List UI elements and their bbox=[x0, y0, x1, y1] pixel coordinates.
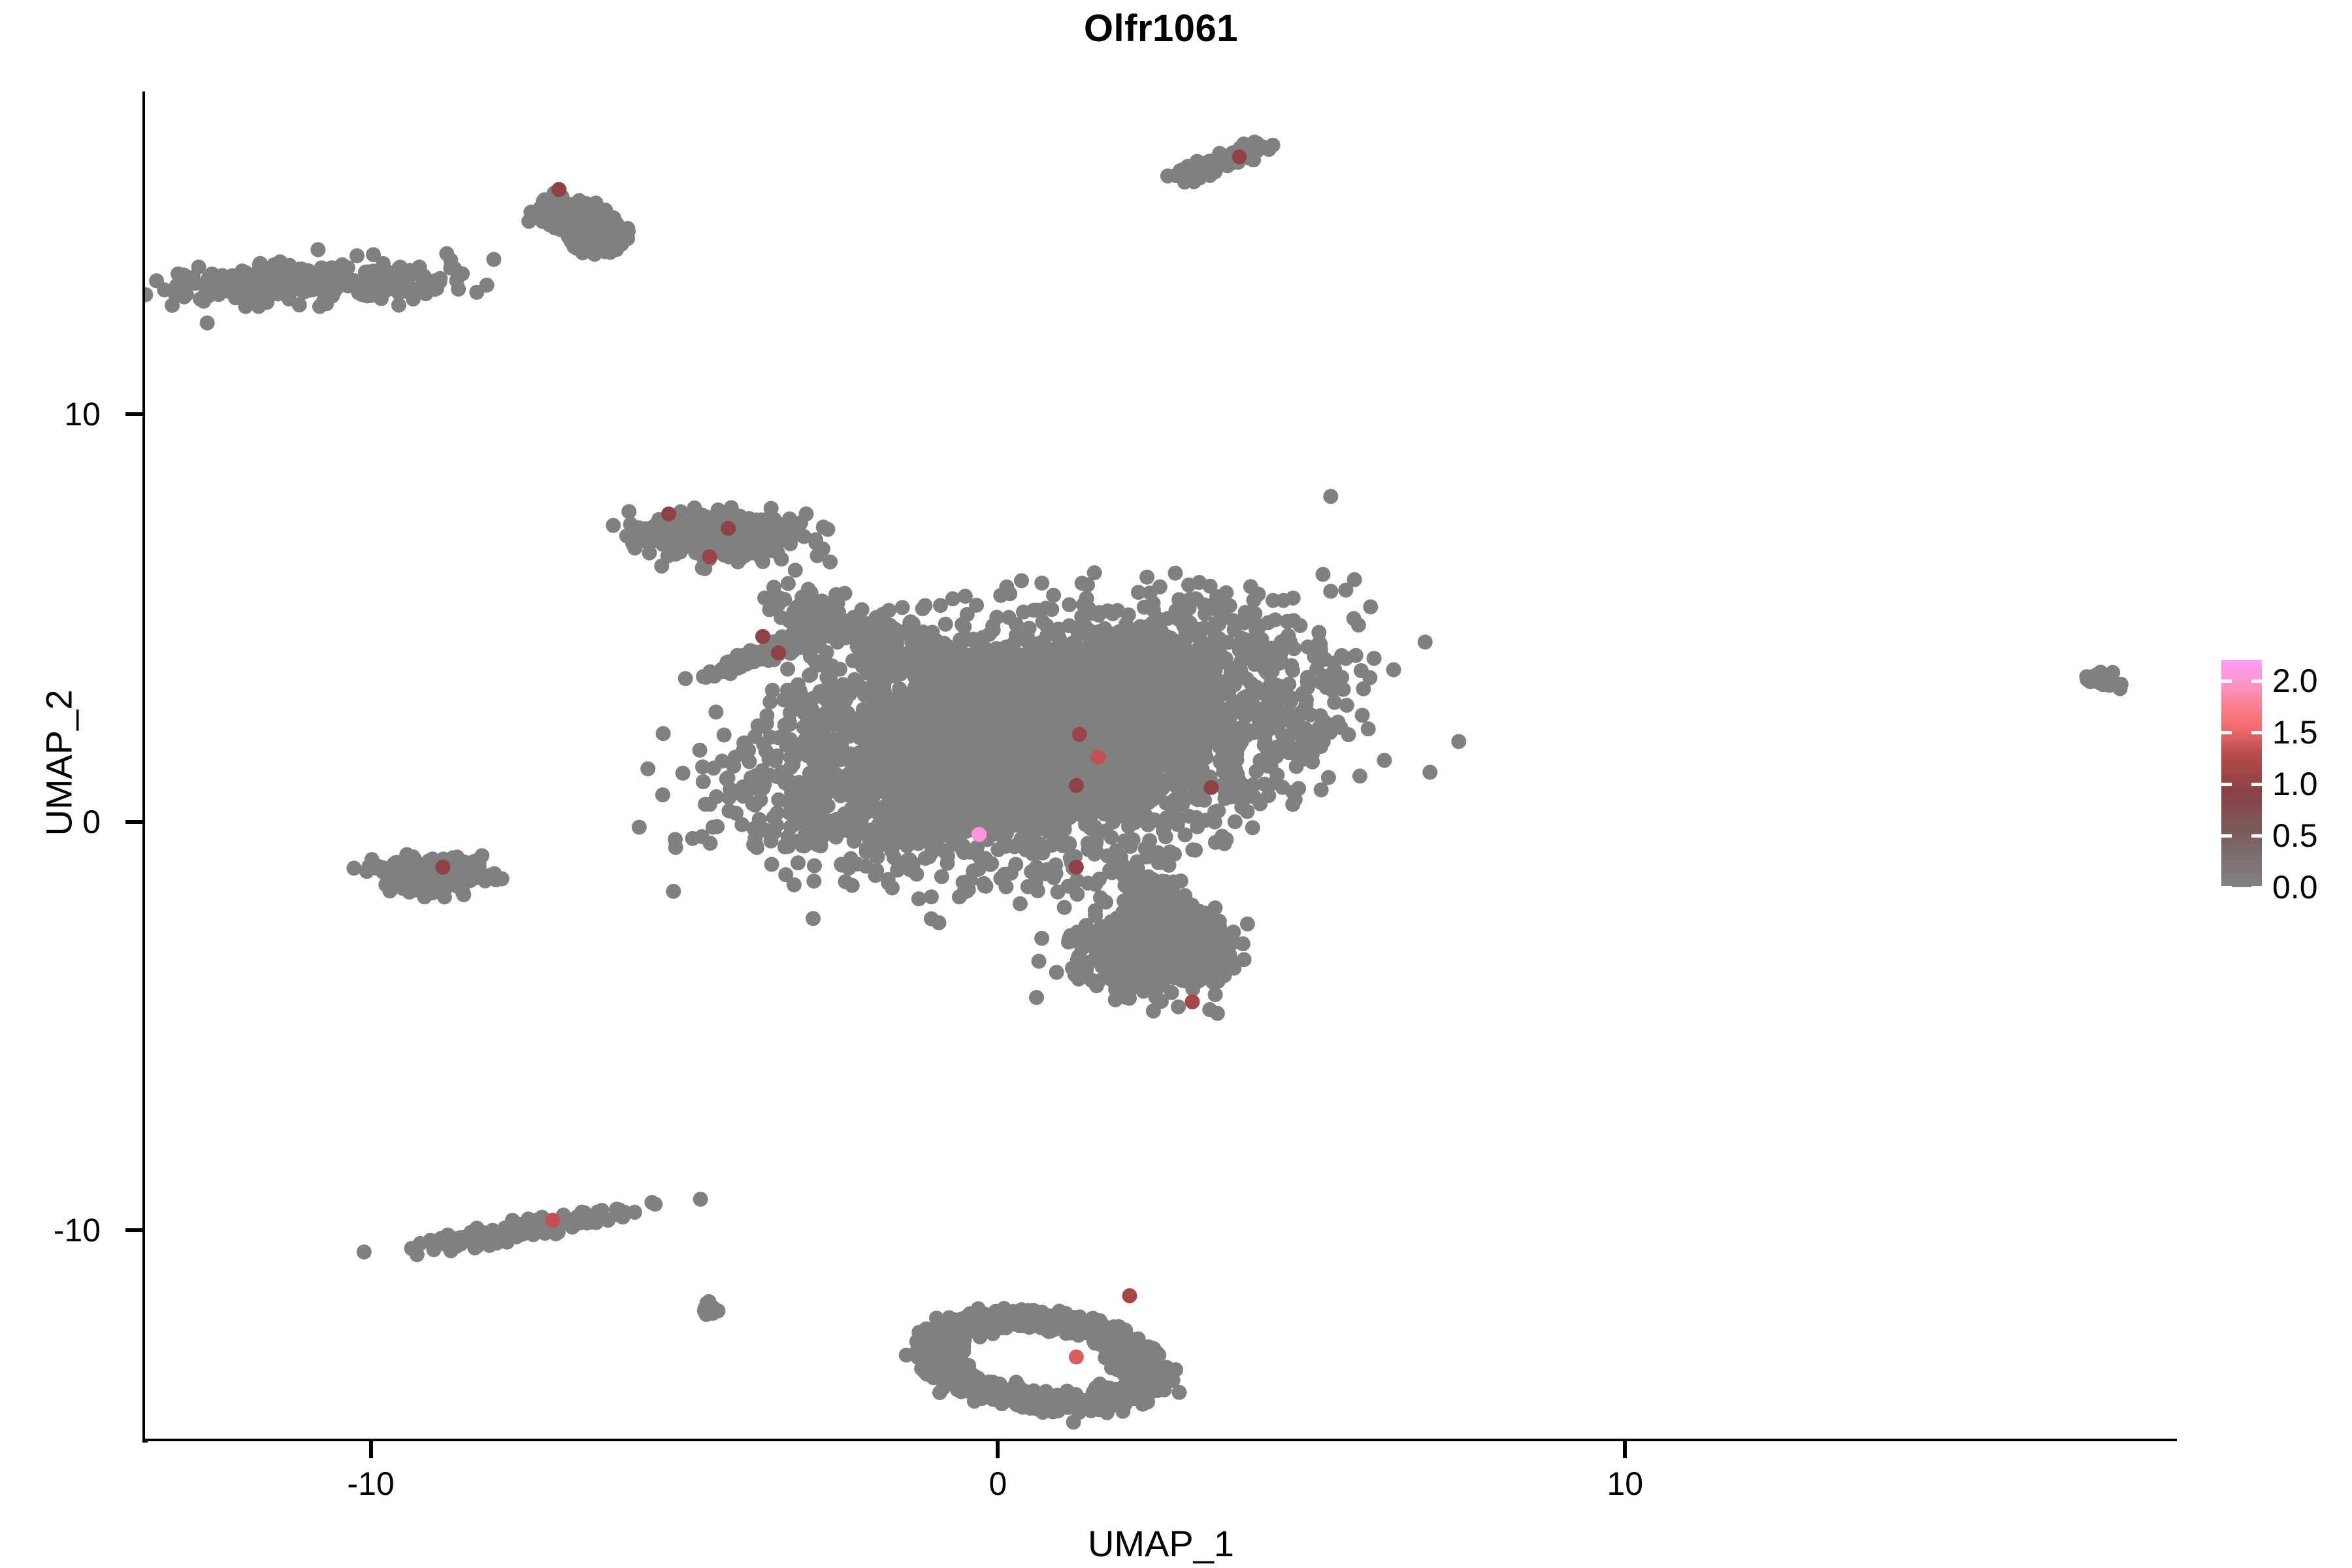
y-tick-label: -10 bbox=[0, 1214, 112, 1247]
scatter-point-highlighted bbox=[551, 182, 566, 197]
scatter-point-highlighted bbox=[661, 506, 676, 521]
scatter-point-highlighted bbox=[1069, 778, 1084, 793]
y-tick-mark bbox=[125, 1228, 142, 1232]
x-tick-mark bbox=[369, 1441, 373, 1458]
legend-tick-label: 1.5 bbox=[2272, 716, 2318, 749]
scatter-point-highlighted bbox=[1185, 994, 1200, 1009]
scatter-point-highlighted bbox=[545, 1213, 560, 1228]
scatter-point-highlighted bbox=[972, 827, 987, 842]
x-tick-mark bbox=[1623, 1441, 1627, 1458]
scatter-point-highlighted bbox=[1069, 860, 1084, 875]
legend-tick-label: 0.5 bbox=[2272, 819, 2318, 852]
y-tick-mark bbox=[125, 820, 142, 824]
color-legend-gradient-bar bbox=[2221, 660, 2262, 887]
page-title: Olfr1061 bbox=[0, 7, 2337, 50]
y-tick-mark bbox=[125, 412, 142, 416]
scatter-svg bbox=[145, 91, 2177, 1439]
scatter-point-highlighted bbox=[721, 521, 736, 536]
umap-feature-plot: Olfr1061 100-10 -10010 UMAP_1 UMAP_2 2.0… bbox=[0, 0, 2352, 1568]
legend-tick-mark bbox=[2221, 783, 2262, 786]
legend-tick-label: 1.0 bbox=[2272, 768, 2318, 800]
legend-tick-mark bbox=[2221, 886, 2262, 889]
scatter-point-highlighted bbox=[1203, 780, 1218, 795]
x-tick-label: 10 bbox=[1546, 1467, 1703, 1500]
scatter-point-highlighted bbox=[435, 860, 450, 875]
scatter-point-highlighted bbox=[1232, 150, 1247, 165]
scatter-points-gray bbox=[145, 135, 2129, 1429]
scatter-point-highlighted bbox=[1069, 1350, 1084, 1365]
x-axis-title-label: UMAP_1 bbox=[1088, 1522, 1234, 1565]
scatter-point-highlighted bbox=[1091, 749, 1106, 764]
scatter-point-highlighted bbox=[1122, 1288, 1137, 1303]
x-tick-label: -10 bbox=[293, 1467, 449, 1500]
legend-tick-label: 0.0 bbox=[2272, 871, 2318, 904]
scatter-point-highlighted bbox=[755, 629, 770, 644]
scatter-points-baseline bbox=[145, 135, 2129, 1429]
x-axis-title: UMAP_1 bbox=[0, 1522, 2337, 1565]
legend-tick-mark bbox=[2221, 731, 2262, 734]
scatter-point-highlighted bbox=[1072, 727, 1087, 742]
scatter-points-layer bbox=[145, 91, 2177, 1439]
scatter-point-highlighted bbox=[702, 549, 717, 564]
plot-panel bbox=[145, 91, 2177, 1439]
legend-tick-mark bbox=[2221, 679, 2262, 683]
x-tick-label: 0 bbox=[919, 1467, 1076, 1500]
scatter-point-highlighted bbox=[771, 645, 786, 661]
legend-tick-mark bbox=[2221, 834, 2262, 838]
y-axis-title: UMAP_2 bbox=[38, 371, 80, 1155]
color-legend: 2.01.51.00.50.0 bbox=[2221, 660, 2345, 895]
x-tick-mark bbox=[996, 1441, 1000, 1458]
legend-tick-label: 2.0 bbox=[2272, 664, 2318, 697]
